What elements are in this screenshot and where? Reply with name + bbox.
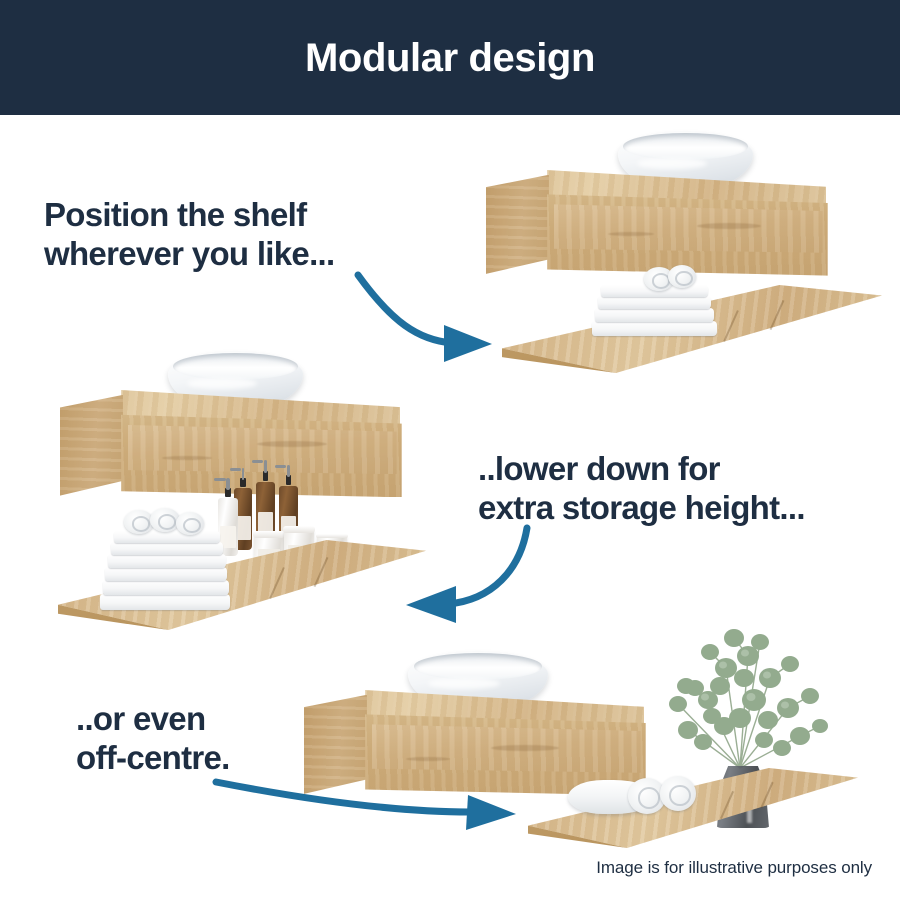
unit-left-side bbox=[486, 175, 549, 278]
rolled-towel bbox=[668, 265, 696, 288]
unit-left-side bbox=[304, 695, 367, 798]
towel-fold bbox=[592, 321, 717, 336]
jar-lid bbox=[283, 526, 315, 533]
bottle-pump bbox=[264, 460, 267, 473]
towel-fold bbox=[108, 554, 226, 568]
jar-lid bbox=[316, 534, 348, 538]
arrow-1 bbox=[358, 275, 492, 362]
folded-towel-stack bbox=[100, 520, 230, 612]
folded-towel-stack bbox=[592, 277, 717, 339]
towel-fold bbox=[111, 542, 223, 555]
bottle-pump bbox=[287, 465, 290, 477]
basin-highlight bbox=[428, 678, 501, 690]
bottle-pump bbox=[242, 468, 245, 480]
scene-shelf-high bbox=[480, 130, 900, 400]
bottle-spout bbox=[275, 465, 286, 468]
scene-shelf-low bbox=[58, 350, 478, 640]
header-banner: Modular design bbox=[0, 0, 900, 115]
bottle-spout bbox=[230, 468, 241, 471]
towel-fold bbox=[598, 296, 711, 309]
unit-left-side bbox=[60, 395, 123, 500]
towel-fold bbox=[595, 308, 714, 322]
towel-fold bbox=[105, 567, 227, 581]
bottle-spout bbox=[252, 460, 263, 463]
rolled-towel bbox=[176, 512, 204, 535]
bottle-pump bbox=[226, 478, 229, 490]
wood-grain-mark bbox=[162, 456, 212, 460]
wood-grain-mark bbox=[697, 223, 761, 229]
caption-lower-down: ..lower down for extra storage height... bbox=[478, 450, 805, 528]
caption-off-centre: ..or even off-centre. bbox=[76, 700, 230, 778]
basin-rim bbox=[414, 653, 543, 680]
basin-rim bbox=[623, 133, 747, 160]
scene-shelf-offcentre bbox=[300, 600, 860, 860]
rolled-towel bbox=[660, 776, 696, 811]
page-title: Modular design bbox=[305, 38, 595, 78]
towel-fold bbox=[103, 580, 229, 595]
rolled-towel-pair bbox=[568, 772, 698, 820]
bottle-spout bbox=[214, 478, 226, 481]
towel-fold bbox=[114, 531, 220, 543]
basin-highlight bbox=[187, 378, 257, 390]
caption-position-shelf: Position the shelf wherever you like... bbox=[44, 196, 334, 274]
jar-lid bbox=[253, 531, 285, 538]
footnote-disclaimer: Image is for illustrative purposes only bbox=[596, 858, 872, 878]
basin-highlight bbox=[637, 158, 707, 170]
infographic-page: Modular design Position the shelf wherev… bbox=[0, 0, 900, 900]
basin-rim bbox=[173, 353, 297, 380]
towel-fold bbox=[100, 594, 230, 610]
